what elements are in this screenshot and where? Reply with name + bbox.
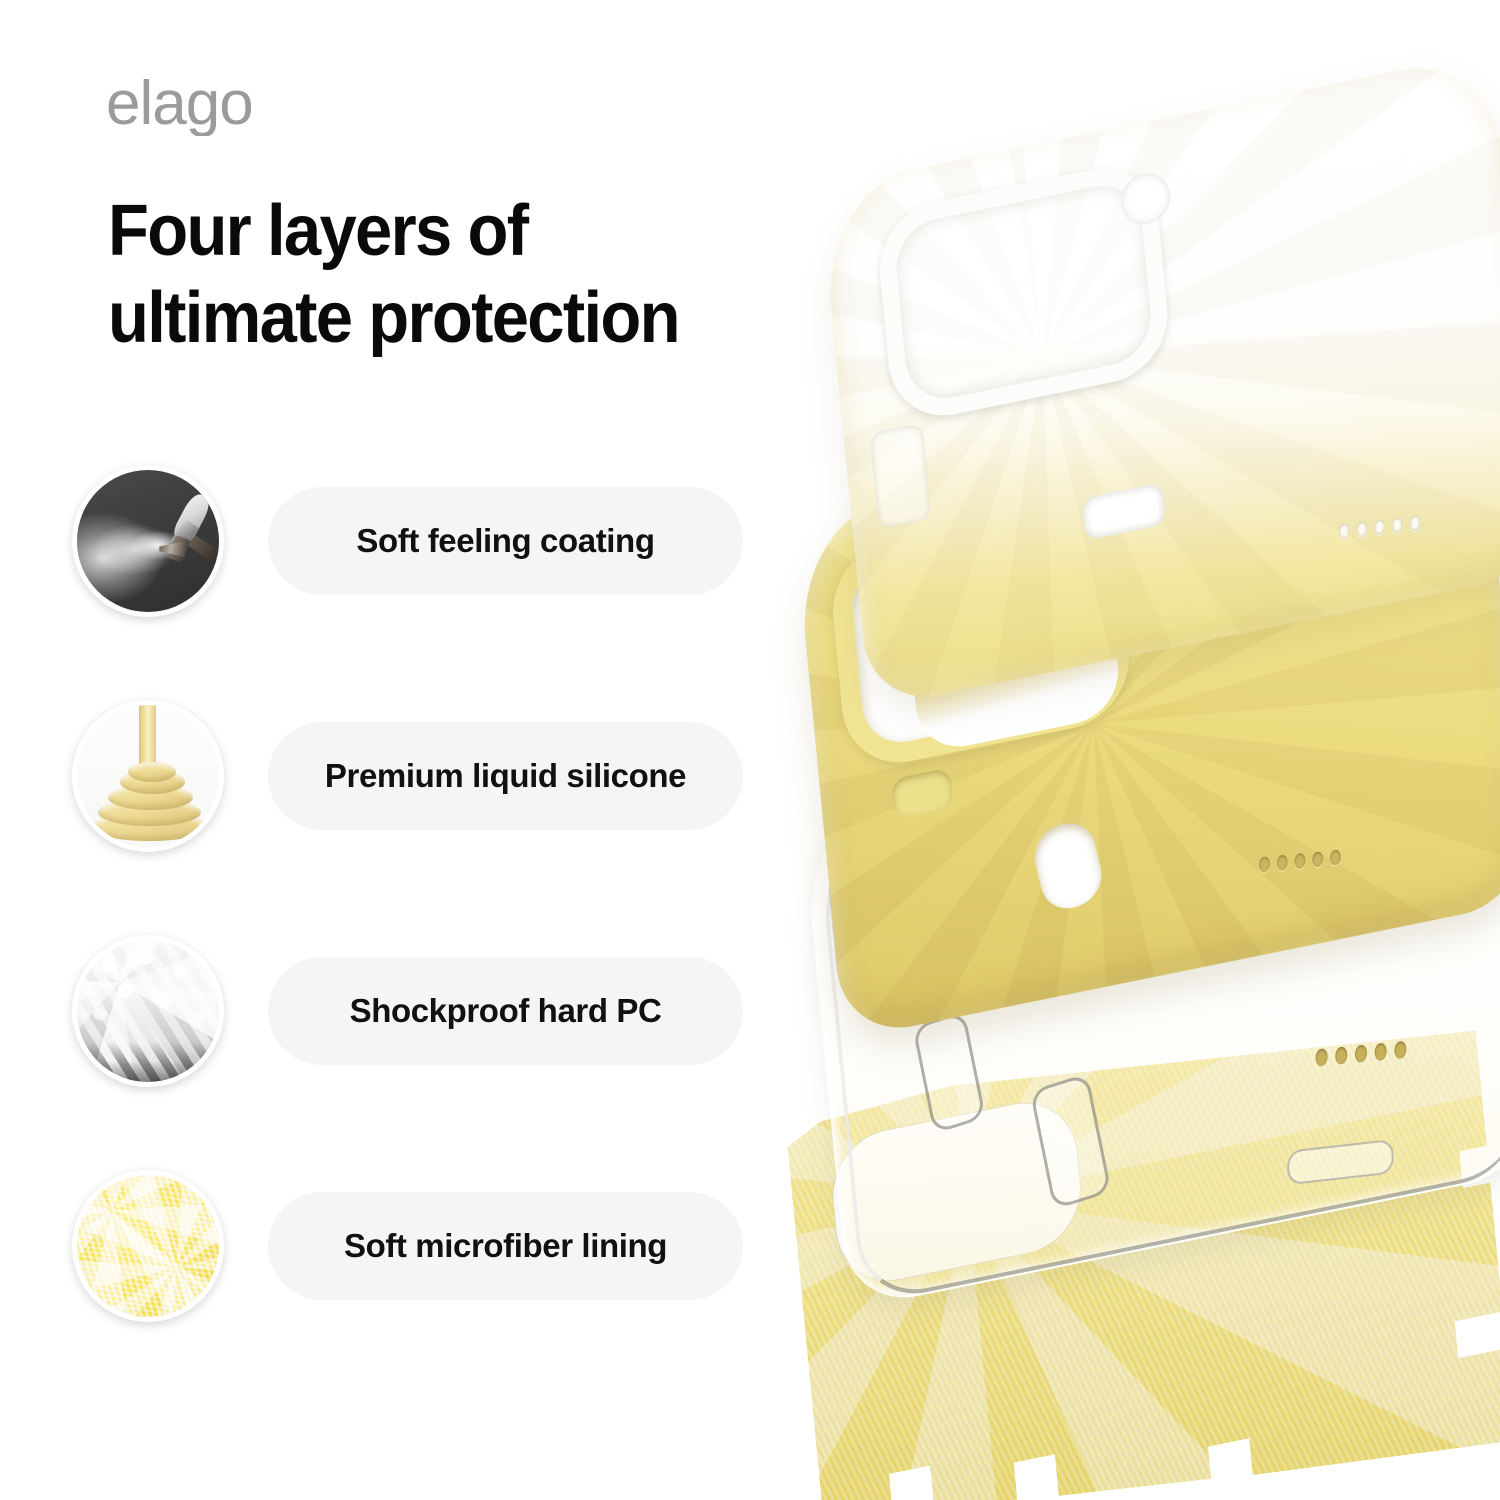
exploded-case-render	[800, 120, 1500, 1500]
feature-item-soft-microfiber-lining: Soft microfiber lining	[72, 1170, 772, 1320]
feature-label: Soft microfiber lining	[344, 1227, 667, 1265]
product-feature-infographic: elago Four layers of ultimate protection…	[0, 0, 1500, 1500]
elago-logotype: elago	[106, 78, 253, 136]
liquid-silicone-icon	[77, 705, 219, 847]
headline-line-1: Four layers of	[108, 188, 815, 275]
feature-thumbnail-spray	[72, 465, 224, 617]
coating-button-cutout	[869, 423, 931, 530]
feature-thumbnail-pc-pellets	[72, 935, 224, 1087]
feature-pill: Soft microfiber lining	[268, 1192, 743, 1300]
feature-thumbnail-microfiber	[72, 1170, 224, 1322]
feature-label: Premium liquid silicone	[325, 757, 686, 795]
feature-label: Soft feeling coating	[356, 522, 654, 560]
page-title: Four layers of ultimate protection	[108, 188, 815, 362]
feature-pill: Premium liquid silicone	[268, 722, 743, 830]
pc-pellets-icon	[77, 940, 219, 1082]
feature-thumbnail-silicone	[72, 700, 224, 852]
microfiber-texture-icon	[77, 1175, 219, 1317]
elago-logo: elago	[106, 78, 286, 136]
feature-item-premium-liquid-silicone: Premium liquid silicone	[72, 700, 772, 850]
feature-item-soft-feeling-coating: Soft feeling coating	[72, 465, 772, 615]
feature-item-shockproof-hard-pc: Shockproof hard PC	[72, 935, 772, 1085]
headline-line-2: ultimate protection	[108, 275, 815, 362]
feature-pill: Soft feeling coating	[268, 487, 743, 595]
silicone-coil-shape	[128, 762, 176, 782]
feature-label: Shockproof hard PC	[350, 992, 662, 1030]
spray-nozzle-icon	[77, 470, 219, 612]
feature-pill: Shockproof hard PC	[268, 957, 743, 1065]
